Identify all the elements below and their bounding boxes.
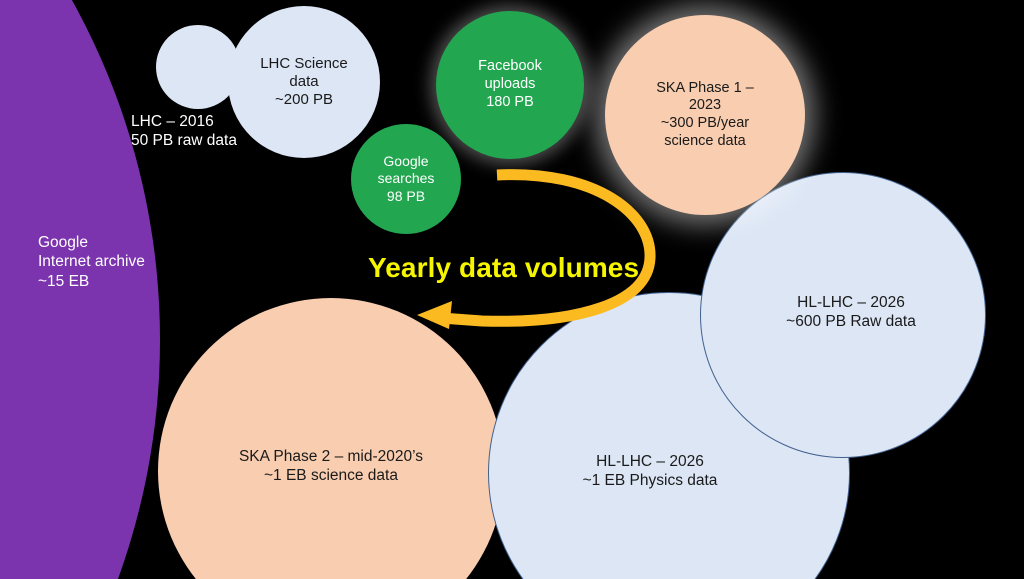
- caption-lhc-2016: LHC – 2016 50 PB raw data: [131, 112, 237, 151]
- bubble-label-hl-lhc-physics: HL-LHC – 2026 ~1 EB Physics data: [577, 453, 724, 491]
- bubble-label-ska-phase-1: SKA Phase 1 – 2023 ~300 PB/year science …: [650, 80, 760, 151]
- bubble-google-searches[interactable]: Google searches 98 PB: [351, 124, 461, 234]
- headline-yearly-data-volumes: Yearly data volumes: [368, 252, 639, 284]
- bubble-label-hl-lhc-raw: HL-LHC – 2026 ~600 PB Raw data: [780, 294, 922, 332]
- bubble-ska-phase-2[interactable]: SKA Phase 2 – mid-2020’s ~1 EB science d…: [158, 298, 504, 579]
- bubble-label-google-internet-archive: Google Internet archive ~15 EB: [38, 233, 145, 291]
- bubble-lhc-2016[interactable]: [156, 25, 240, 109]
- bubble-facebook-uploads[interactable]: Facebook uploads 180 PB: [436, 11, 584, 159]
- bubble-label-facebook-uploads: Facebook uploads 180 PB: [472, 58, 548, 111]
- bubble-hl-lhc-raw[interactable]: HL-LHC – 2026 ~600 PB Raw data: [700, 172, 986, 458]
- bubble-lhc-science-data[interactable]: LHC Science data ~200 PB: [228, 6, 380, 158]
- bubble-label-ska-phase-2: SKA Phase 2 – mid-2020’s ~1 EB science d…: [233, 448, 429, 486]
- slide-canvas: Google Internet archive ~15 EB SKA Phase…: [0, 0, 1024, 579]
- bubble-label-lhc-science-data: LHC Science data ~200 PB: [254, 55, 354, 110]
- bubble-ska-phase-1[interactable]: SKA Phase 1 – 2023 ~300 PB/year science …: [605, 15, 805, 215]
- bubble-label-google-searches: Google searches 98 PB: [372, 153, 441, 204]
